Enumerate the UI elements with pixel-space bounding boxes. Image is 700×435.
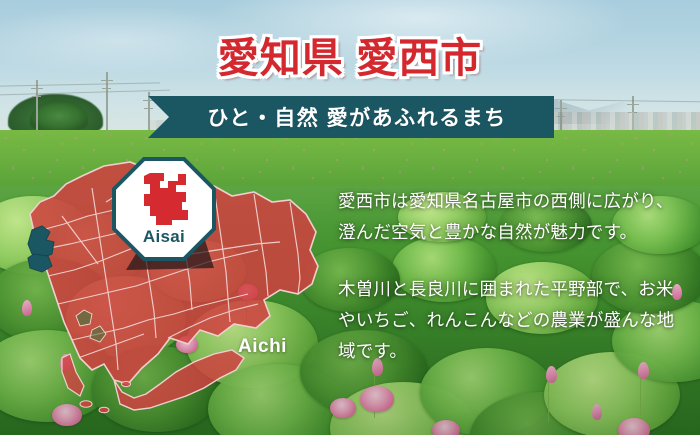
page-title: 愛知県 愛西市: [0, 24, 700, 84]
description-paragraph-2: 木曽川と長良川に囲まれた平野部で、お米やいちご、れんこんなどの農業が盛んな地域で…: [338, 274, 684, 367]
description-paragraph-1: 愛西市は愛知県名古屋市の西側に広がり、澄んだ空気と豊かな自然が魅力です。: [338, 186, 684, 248]
utility-pole: [36, 80, 38, 134]
coast-spur: [62, 354, 84, 396]
promotional-banner: Aichi Aisai 愛知県 愛西市 ひと・自然 愛があふれるまち 愛西市は愛…: [0, 0, 700, 435]
island: [99, 407, 109, 413]
badge-label: Aisai: [112, 227, 216, 247]
aichi-prefecture-label: Aichi: [238, 336, 287, 358]
island: [80, 401, 92, 407]
aisai-badge[interactable]: Aisai: [112, 157, 216, 261]
island: [122, 381, 131, 386]
description-panel: 愛西市は愛知県名古屋市の西側に広がり、澄んだ空気と豊かな自然が魅力です。 木曽川…: [338, 186, 684, 367]
aisai-city-outline-icon: [138, 172, 190, 226]
slogan-text: ひと・自然 愛があふれるまち: [148, 96, 552, 138]
